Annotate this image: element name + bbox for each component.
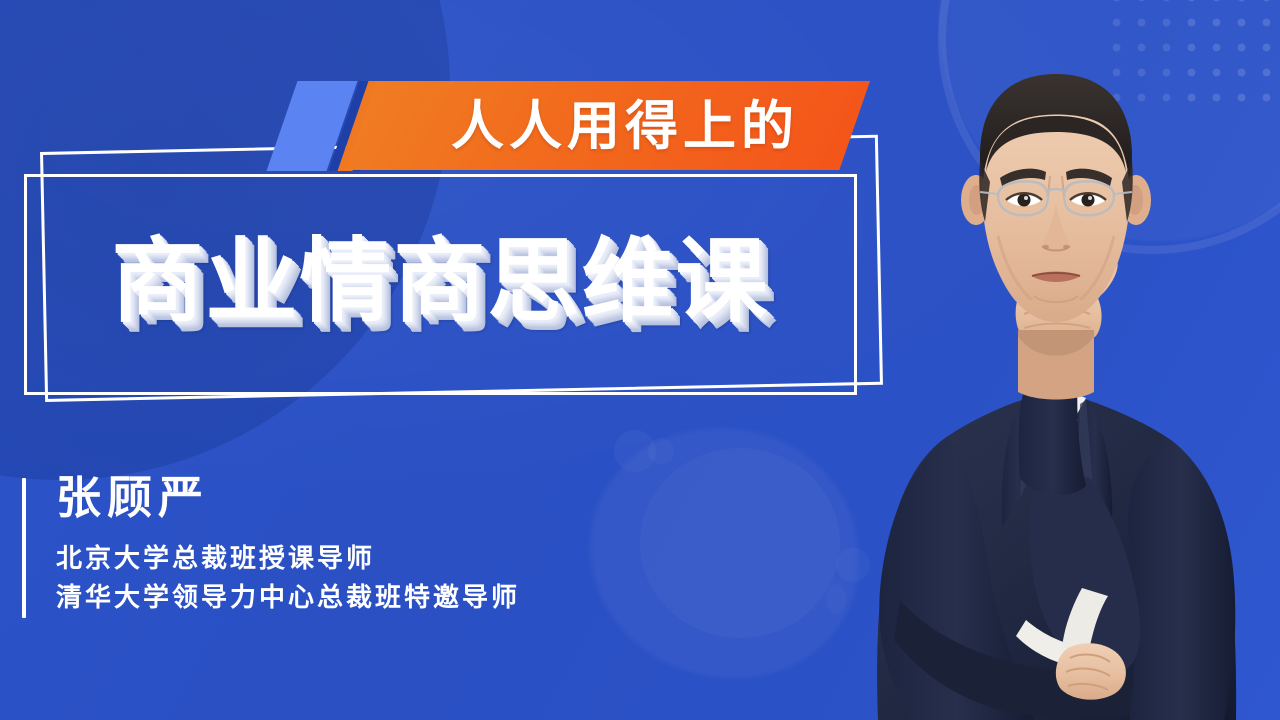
blob-dot-decoration: [648, 438, 674, 464]
speaker-name: 张顾严: [56, 472, 520, 524]
speaker-text-group: 张顾严 北京大学总裁班授课导师 清华大学领导力中心总裁班特邀导师: [56, 470, 520, 618]
speaker-block: 张顾严 北京大学总裁班授课导师 清华大学领导力中心总裁班特邀导师: [22, 470, 520, 618]
page-title: 商业情商思维课: [24, 212, 857, 352]
speaker-credential-line-1: 北京大学总裁班授课导师: [56, 539, 520, 577]
eyebrow-banner-label: 人人用得上的: [382, 88, 868, 164]
instructor-portrait: [820, 0, 1280, 720]
course-poster: 人人用得上的 商业情商思维课 张顾严 北京大学总裁班授课导师 清华大学领导力中心…: [0, 0, 1280, 720]
light-blob-decoration-inner: [640, 448, 840, 638]
speaker-credential-line-2: 清华大学领导力中心总裁班特邀导师: [56, 578, 520, 616]
speaker-accent-rule: [22, 478, 26, 618]
